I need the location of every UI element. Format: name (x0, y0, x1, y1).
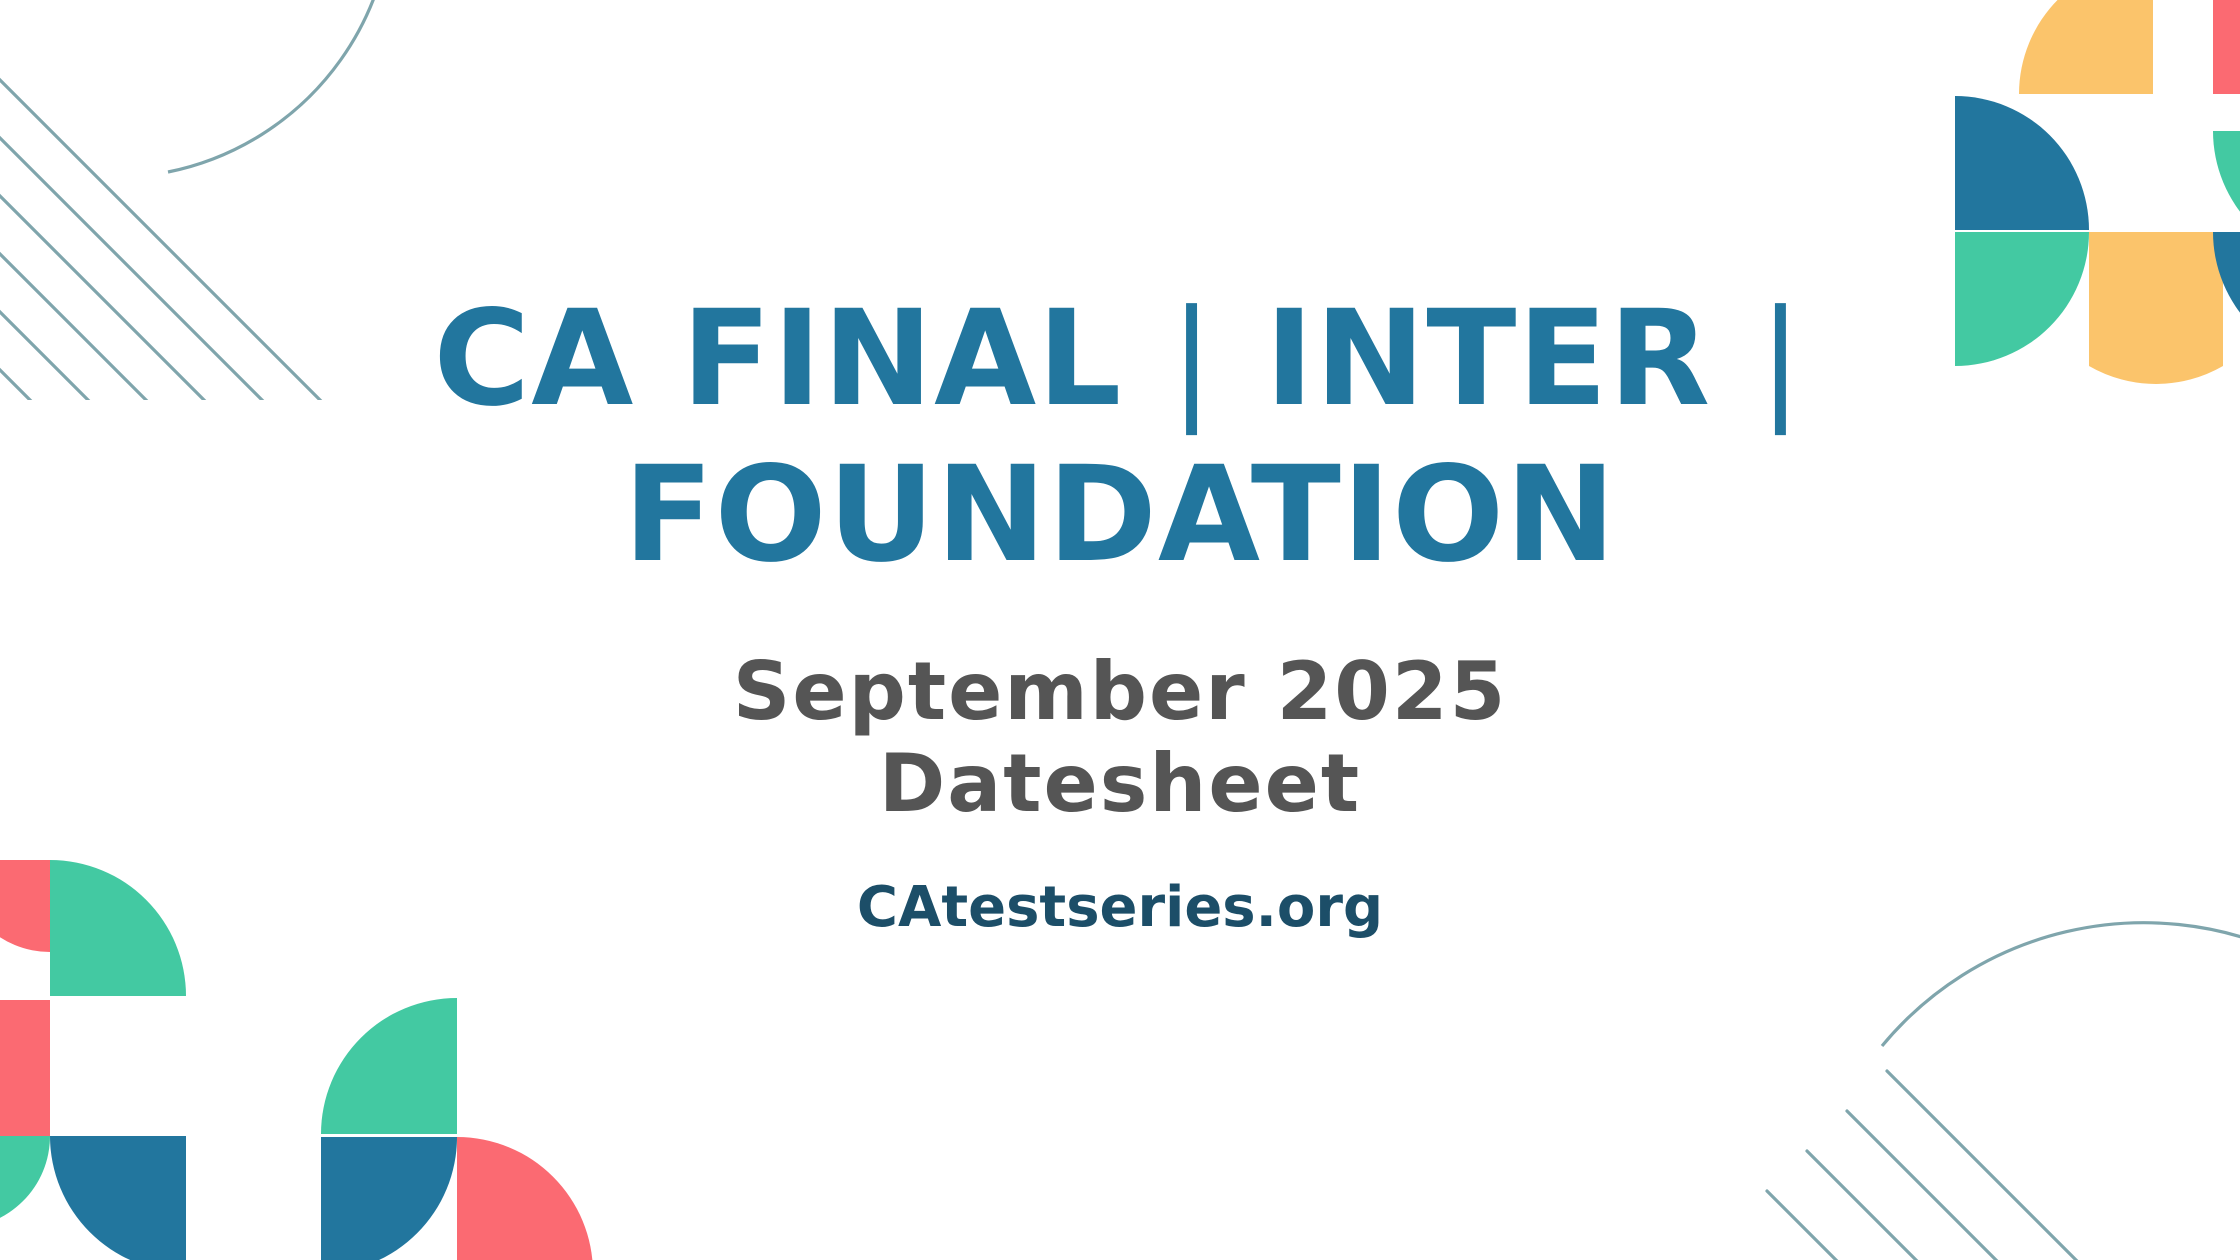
poster-canvas: CA FINAL | INTER | FOUNDATION September … (0, 0, 2240, 1260)
subtitle-line-2: Datesheet (733, 738, 1507, 831)
title-part-ca-final: CA FINAL (433, 282, 1122, 436)
subtitle-line-1: September 2025 (733, 646, 1507, 739)
title-line-2: FOUNDATION (370, 438, 1870, 594)
subtitle-block: September 2025 Datesheet (733, 646, 1507, 832)
website-url: CAtestseries.org (857, 875, 1383, 940)
title-separator-2: | (1758, 282, 1806, 436)
website-block: CAtestseries.org (857, 875, 1383, 940)
title-block: CA FINAL | INTER | FOUNDATION (370, 282, 1870, 594)
title-separator-1: | (1169, 282, 1217, 436)
title-part-inter: INTER (1265, 282, 1711, 436)
content-container: CA FINAL | INTER | FOUNDATION September … (0, 0, 2240, 1260)
title-line-1: CA FINAL | INTER | (370, 282, 1870, 438)
